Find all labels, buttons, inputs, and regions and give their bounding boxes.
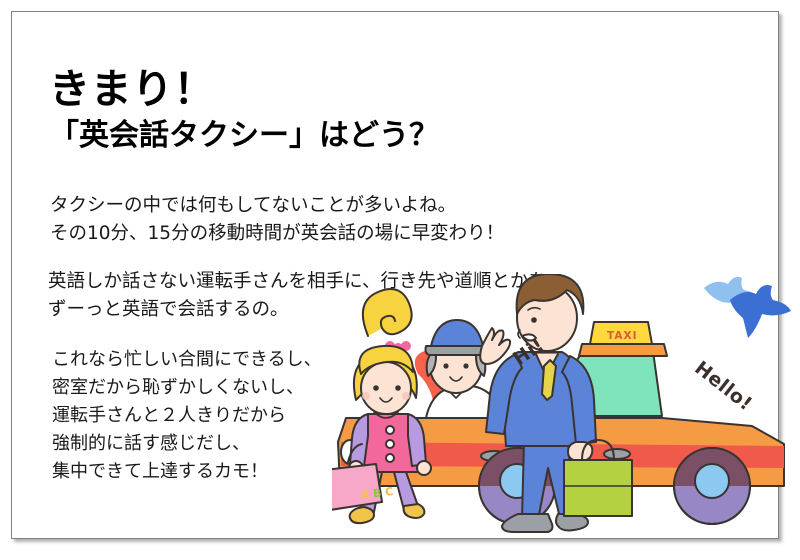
body-paragraph-3: これなら忙しい合間にできるし、 密室だから恥ずかしくないし、 運転手さんと２人き… — [52, 346, 322, 485]
body-line: 密室だから恥ずかしくないし、 — [52, 374, 322, 402]
taxi-wheel-rear — [674, 448, 750, 524]
body-line: 運転手さんと２人きりだから — [52, 402, 322, 430]
letter-b: B — [372, 486, 382, 500]
body-line: 強制的に話す感じだし、 — [52, 430, 322, 458]
title-block: きまり！ 「英会話タクシー」はどう？ — [49, 68, 689, 154]
letter-c: C — [384, 485, 394, 499]
slide-frame: きまり！ 「英会話タクシー」はどう？ タクシーの中では何もしてないことが多いよね… — [11, 11, 779, 539]
body-line: タクシーの中では何もしてないことが多いよね。 — [50, 192, 504, 220]
slide-page: きまり！ 「英会話タクシー」はどう？ タクシーの中では何もしてないことが多いよね… — [0, 0, 800, 560]
page-title-line1: きまり！ — [49, 68, 689, 111]
body-paragraph-1: タクシーの中では何もしてないことが多いよね。 その10分、15分の移動時間が英会… — [50, 192, 504, 248]
body-line: その10分、15分の移動時間が英会話の場に早変わり！ — [50, 220, 504, 248]
letter-a: A — [360, 488, 370, 502]
body-line: 集中できて上達するカモ！ — [52, 458, 322, 486]
page-title-line2: 「英会話タクシー」はどう？ — [49, 119, 689, 154]
body-line: これなら忙しい合間にできるし、 — [52, 346, 322, 374]
taxi-scene-illustration: .ol { stroke:#3a3330; stroke-width:2; st… — [332, 274, 800, 552]
taxi-sign-label: TAXI — [607, 330, 637, 342]
